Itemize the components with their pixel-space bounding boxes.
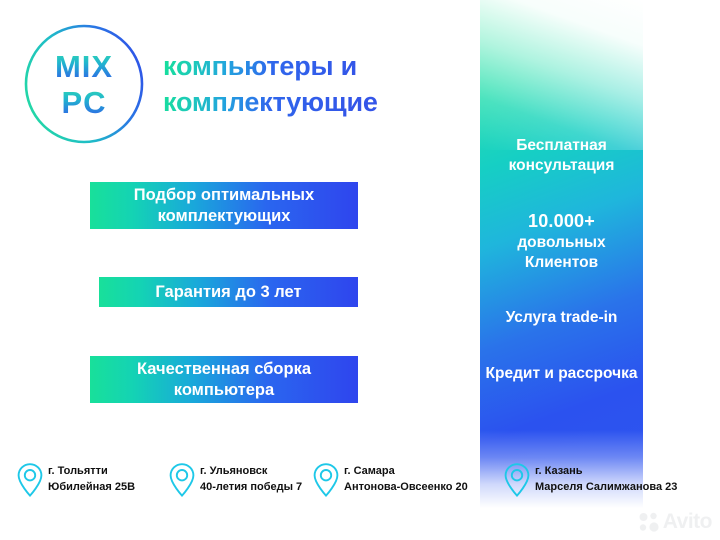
feature-bar-quality-build: Качественная сборка компьютера	[90, 356, 358, 403]
location-text: г. Казань Марселя Салимжанова 23	[535, 464, 677, 495]
promo-banner: Бесплатная консультация 10.000+ довольны…	[0, 0, 720, 540]
location-text: г. Самара Антонова-Овсеенко 20	[344, 464, 468, 495]
clients-label: довольных Клиентов	[517, 234, 605, 271]
benefit-clients: 10.000+ довольных Клиентов	[480, 210, 643, 273]
avito-watermark-label: Avito	[663, 510, 712, 534]
logo-wordmark: MIX PC	[22, 22, 146, 146]
location-kazan: г. Казань Марселя Салимжанова 23	[503, 462, 677, 498]
benefit-free-consultation: Бесплатная консультация	[480, 136, 643, 176]
map-pin-icon	[503, 462, 531, 498]
location-city: г. Казань	[535, 464, 677, 480]
map-pin-icon	[312, 462, 340, 498]
location-street: Марселя Салимжанова 23	[535, 480, 677, 496]
benefit-credit: Кредит и рассрочка	[480, 364, 643, 384]
logo-line-pc: PC	[61, 87, 106, 118]
page-title: компьютеры и комплектующие	[163, 49, 483, 120]
map-pin-icon	[16, 462, 44, 498]
side-panel-benefits: Бесплатная консультация 10.000+ довольны…	[480, 0, 643, 508]
location-text: г. Ульяновск 40-летия победы 7	[200, 464, 302, 495]
avito-dots-icon	[638, 511, 660, 533]
location-tolyatti: г. Тольятти Юбилейная 25В	[16, 462, 135, 498]
location-text: г. Тольятти Юбилейная 25В	[48, 464, 135, 495]
logo-line-mix: MIX	[55, 51, 113, 82]
clients-count: 10.000+	[480, 210, 643, 233]
feature-bar-warranty: Гарантия до 3 лет	[99, 277, 358, 307]
location-street: 40-летия победы 7	[200, 480, 302, 496]
location-city: г. Ульяновск	[200, 464, 302, 480]
location-ulyanovsk: г. Ульяновск 40-летия победы 7	[168, 462, 302, 498]
location-street: Юбилейная 25В	[48, 480, 135, 496]
map-pin-icon	[168, 462, 196, 498]
location-samara: г. Самара Антонова-Овсеенко 20	[312, 462, 468, 498]
avito-watermark: Avito	[638, 510, 712, 534]
location-street: Антонова-Овсеенко 20	[344, 480, 468, 496]
benefit-trade-in: Услуга trade-in	[480, 308, 643, 328]
locations-bar: г. Тольятти Юбилейная 25В г. Ульяновск 4…	[0, 462, 720, 512]
brand-logo: MIX PC	[22, 22, 146, 146]
feature-bar-optimal-parts: Подбор оптимальных комплектующих	[90, 182, 358, 229]
location-city: г. Самара	[344, 464, 468, 480]
location-city: г. Тольятти	[48, 464, 135, 480]
